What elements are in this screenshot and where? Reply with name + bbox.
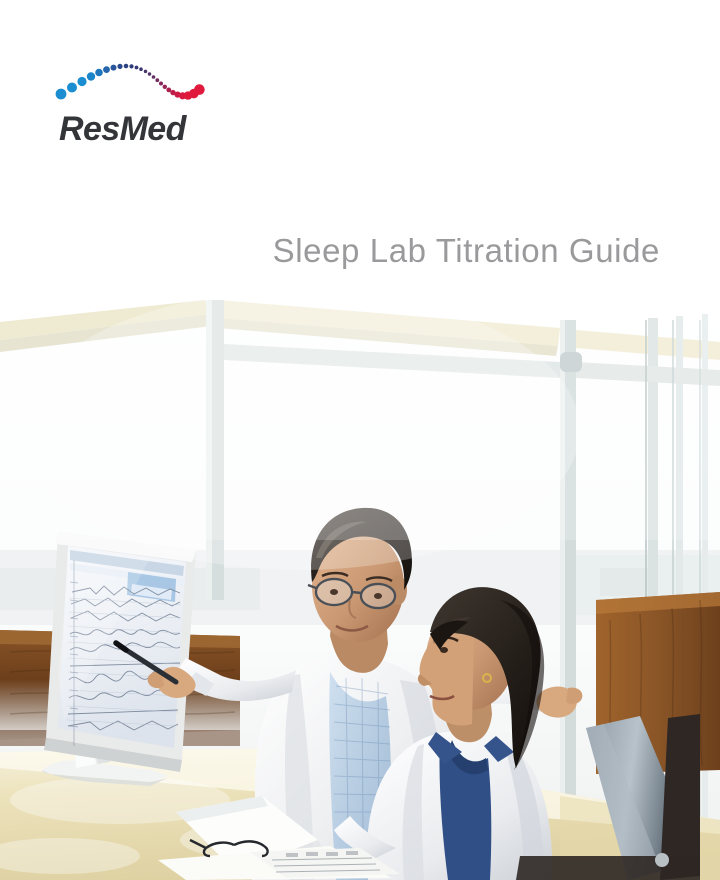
cover-header: ResMed Sleep Lab Titration Guide: [0, 0, 720, 300]
cover-photograph: [0, 300, 720, 880]
brochure-cover-page: ResMed Sleep Lab Titration Guide: [0, 0, 720, 880]
clinicians-reviewing-sleep-study-image: [0, 300, 720, 880]
resmed-wordmark: ResMed: [59, 112, 186, 146]
page-title: Sleep Lab Titration Guide: [273, 232, 660, 270]
resmed-logo: ResMed: [55, 52, 205, 157]
resmed-dotted-wave-logo: [55, 52, 205, 114]
